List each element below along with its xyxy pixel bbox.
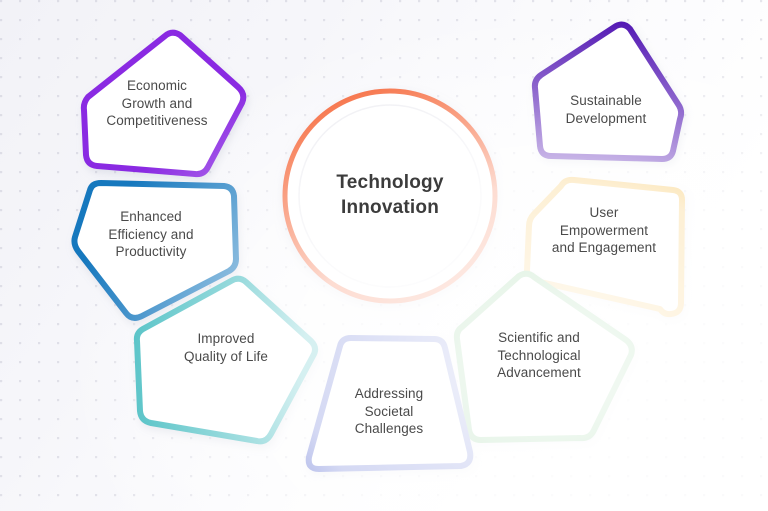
- center-circle-inner: [299, 105, 481, 287]
- node-shape-economic-growth[interactable]: [84, 33, 244, 174]
- diagram-canvas: Technology Innovation Economic Growth an…: [0, 0, 768, 511]
- radial-diagram: [0, 0, 768, 511]
- node-shape-sustainable-development[interactable]: [535, 25, 681, 159]
- node-shape-addressing-societal-challenges[interactable]: [309, 338, 471, 469]
